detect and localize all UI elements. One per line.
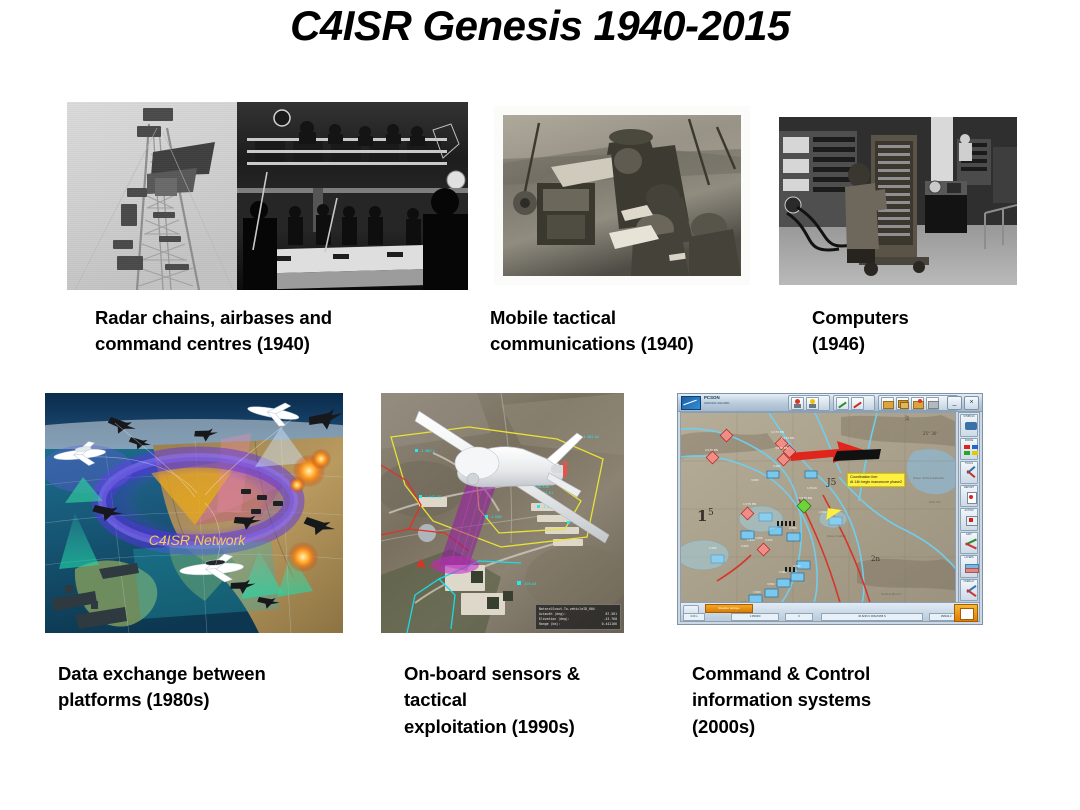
caption-c2-systems: Command & Control information systems (2… bbox=[692, 661, 962, 740]
c2-toolbar-group-draw[interactable] bbox=[833, 395, 875, 411]
svg-text:-1 008: -1 008 bbox=[490, 515, 502, 519]
caption-line: (1946) bbox=[812, 331, 1042, 357]
c2-map-illustration: 1/1TK BN 2/1TK BN 3/1TK BN 2/1TK BN 1/2I… bbox=[681, 413, 956, 603]
folder-multi-icon[interactable] bbox=[896, 397, 909, 410]
uav-data-panel: NatarolScout-To-vehicleID_004 Azimuth (d… bbox=[535, 604, 621, 630]
uav-sensors-image: -1 380.1 -1 482.42 -1 442.00 -1 021.01 -… bbox=[381, 393, 624, 633]
status-field-time: 0.00 s bbox=[683, 613, 705, 621]
caption-line: information systems bbox=[692, 687, 962, 713]
uav-sensors-illustration: -1 380.1 -1 482.42 -1 442.00 -1 021.01 -… bbox=[381, 393, 624, 633]
caption-line: exploitation (1990s) bbox=[404, 714, 644, 740]
svg-text:2/3IN: 2/3IN bbox=[789, 526, 796, 530]
sidebar-item-action[interactable]: ACTION bbox=[960, 508, 978, 531]
svg-text:-1 482.42: -1 482.42 bbox=[582, 435, 599, 439]
caption-line: (2000s) bbox=[692, 714, 962, 740]
c2-tool-sidebar[interactable]: SYMBOLS FORCE TOOLS REPORT ACTI bbox=[958, 412, 980, 603]
caption-line: Command & Control bbox=[692, 661, 962, 687]
field-radio-illustration bbox=[503, 115, 741, 276]
operations-room-illustration bbox=[237, 102, 468, 290]
svg-text:2/1TK BN: 2/1TK BN bbox=[799, 496, 812, 500]
svg-text:Kab Chi: Kab Chi bbox=[929, 500, 941, 504]
symbols-icon bbox=[965, 422, 977, 430]
caption-line: communications (1940) bbox=[490, 331, 770, 357]
svg-text:-1 442.00: -1 442.00 bbox=[424, 495, 442, 499]
svg-text:5: 5 bbox=[708, 508, 714, 518]
c2-window: PCSON 4/03/2104 4/21/2001 bbox=[677, 393, 983, 625]
folder-save-icon[interactable] bbox=[926, 397, 939, 410]
page-title: C4ISR Genesis 1940-2015 bbox=[0, 2, 1080, 50]
caption-line: tactical bbox=[404, 687, 644, 713]
c2-titlebar: PCSON 4/03/2104 4/21/2001 bbox=[678, 394, 982, 412]
svg-text:1/1TK BN: 1/1TK BN bbox=[743, 502, 756, 506]
svg-text:1/3IN: 1/3IN bbox=[779, 570, 786, 574]
svg-text:1/1TK BN: 1/1TK BN bbox=[771, 430, 784, 434]
folder-alert-icon[interactable] bbox=[911, 397, 924, 410]
c4isr-network-illustration: C4ISR Network bbox=[45, 393, 343, 633]
callout-pointer bbox=[826, 508, 842, 522]
svg-text:Tuber Aldina Sabada: Tuber Aldina Sabada bbox=[912, 476, 944, 480]
svg-text:J5: J5 bbox=[826, 478, 837, 488]
caption-line: Radar chains, airbases and bbox=[95, 305, 425, 331]
svg-text:25° 30': 25° 30' bbox=[923, 431, 938, 436]
minimize-button[interactable]: _ bbox=[947, 396, 962, 410]
c2-toolbar-group-alerts[interactable] bbox=[788, 395, 830, 411]
svg-text:2/1TK BN: 2/1TK BN bbox=[781, 436, 794, 440]
svg-text:-1 380.1: -1 380.1 bbox=[420, 449, 435, 453]
svg-text:1/2IN: 1/2IN bbox=[709, 546, 716, 550]
caption-line: Mobile tactical bbox=[490, 305, 770, 331]
folder-open-icon[interactable] bbox=[881, 397, 894, 410]
caption-computers: Computers (1946) bbox=[812, 305, 1042, 358]
close-button[interactable]: × bbox=[964, 396, 979, 410]
caption-mobile-comms: Mobile tactical communications (1940) bbox=[490, 305, 770, 358]
status-active-tab[interactable]: Situation tactique bbox=[705, 604, 753, 613]
pen-red-icon[interactable] bbox=[851, 397, 864, 410]
svg-text:3/1TK BN: 3/1TK BN bbox=[775, 446, 788, 450]
svg-text:1: 1 bbox=[697, 507, 707, 525]
svg-text:1/2IN: 1/2IN bbox=[819, 510, 826, 514]
coordination-callout: Coordination line: At 14h begin manoeuvr… bbox=[847, 473, 905, 487]
c4isr-network-label: C4ISR Network bbox=[149, 532, 246, 548]
svg-text:1/2IN: 1/2IN bbox=[755, 536, 762, 540]
sidebar-item-tools[interactable]: TOOLS bbox=[960, 461, 978, 484]
field-radio-photo bbox=[503, 115, 741, 276]
c2-system-image: PCSON 4/03/2104 4/21/2001 bbox=[677, 393, 983, 625]
computers-image bbox=[772, 110, 1024, 292]
c4isr-network-image: C4ISR Network bbox=[45, 393, 343, 633]
svg-text:Qara Qustan: Qara Qustan bbox=[827, 534, 846, 538]
caption-onboard-sensors: On-board sensors & tactical exploitation… bbox=[404, 661, 644, 740]
svg-text:1/3CAV: 1/3CAV bbox=[807, 486, 817, 490]
svg-text:2/2IN: 2/2IN bbox=[741, 544, 748, 548]
svg-text:2/1IN: 2/1IN bbox=[765, 538, 772, 542]
mobile-comms-image bbox=[494, 106, 750, 285]
svg-text:Sadine Bruch: Sadine Bruch bbox=[881, 592, 901, 596]
caption-line: On-board sensors & bbox=[404, 661, 644, 687]
caption-radar-chains: Radar chains, airbases and command centr… bbox=[95, 305, 425, 358]
sidebar-item-report[interactable]: REPORT bbox=[960, 485, 978, 508]
sidebar-item-layers[interactable]: LAYERS bbox=[960, 555, 978, 578]
radar-photo-grain bbox=[67, 102, 237, 290]
svg-text:3/3IN: 3/3IN bbox=[767, 582, 774, 586]
caption-line: Computers bbox=[812, 305, 1042, 331]
svg-text:2/3IN: 2/3IN bbox=[793, 564, 800, 568]
status-field-count: 0 bbox=[785, 613, 813, 621]
pen-green-icon[interactable] bbox=[836, 397, 849, 410]
eniac-photo bbox=[779, 117, 1017, 285]
eniac-illustration bbox=[779, 117, 1017, 285]
operations-room-image bbox=[237, 102, 468, 290]
status-field-coords: 36.8236 N 0052/0058 N bbox=[821, 613, 923, 621]
sidebar-item-symbols[interactable]: SYMBOLS bbox=[960, 414, 978, 437]
svg-text:30': 30' bbox=[905, 415, 910, 421]
caption-data-exchange: Data exchange between platforms (1980s) bbox=[58, 661, 358, 714]
statusbar-confirm-button[interactable] bbox=[954, 604, 978, 622]
force-palette-icon bbox=[964, 445, 970, 449]
svg-text:100.44: 100.44 bbox=[524, 582, 537, 586]
c2-statusbar: Situation tactique 0.00 s 1:250000 0 36.… bbox=[680, 602, 980, 622]
app-logo-icon bbox=[681, 396, 701, 410]
c2-tactical-map[interactable]: 1/1TK BN 2/1TK BN 3/1TK BN 2/1TK BN 1/2I… bbox=[680, 412, 956, 603]
sidebar-item-edit[interactable]: EDIT bbox=[960, 532, 978, 555]
svg-text:-1 004: -1 004 bbox=[428, 564, 440, 568]
caption-line: platforms (1980s) bbox=[58, 687, 358, 713]
lamp-yellow-icon[interactable] bbox=[806, 397, 819, 410]
c2-toolbar-group-files[interactable] bbox=[878, 395, 958, 411]
status-field-scale: 1:250000 bbox=[731, 613, 779, 621]
svg-text:1/2IN: 1/2IN bbox=[773, 464, 780, 468]
lamp-red-icon[interactable] bbox=[791, 397, 804, 410]
caption-line: command centres (1940) bbox=[95, 331, 425, 357]
svg-text:1/4IN: 1/4IN bbox=[753, 590, 760, 594]
uav-data-row: Range (km): 0.442166 bbox=[539, 622, 617, 627]
svg-text:3/2IN: 3/2IN bbox=[751, 478, 758, 482]
svg-text:2n: 2n bbox=[871, 555, 880, 563]
svg-text:2/1TK BN: 2/1TK BN bbox=[705, 448, 718, 452]
c2-window-subtitle: 4/03/2104 4/21/2001 bbox=[704, 401, 730, 405]
caption-line: Data exchange between bbox=[58, 661, 358, 687]
sidebar-item-overlay[interactable]: OVERLAY bbox=[960, 579, 978, 602]
radar-tower-image bbox=[67, 102, 237, 290]
c2-window-title: PCSON bbox=[704, 395, 720, 400]
svg-text:1/1IN: 1/1IN bbox=[747, 538, 754, 542]
sidebar-item-force[interactable]: FORCE bbox=[960, 438, 978, 461]
